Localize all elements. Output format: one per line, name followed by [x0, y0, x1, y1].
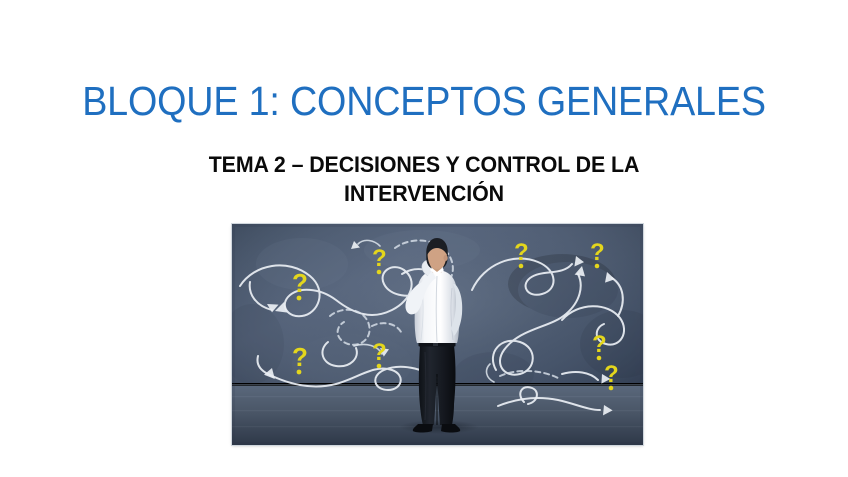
slide-image: .arw { fill:none; stroke:#E9EEF3; stroke… [232, 224, 643, 445]
subtitle-line-1: TEMA 2 – DECISIONES Y CONTROL DE LA [209, 152, 640, 177]
confused-man-illustration: .arw { fill:none; stroke:#E9EEF3; stroke… [232, 224, 643, 445]
question-mark-icon: ? [292, 342, 308, 372]
question-mark-icon: ? [372, 339, 387, 366]
presentation-slide: BLOQUE 1: CONCEPTOS GENERALES TEMA 2 – D… [0, 0, 848, 477]
slide-subtitle: TEMA 2 – DECISIONES Y CONTROL DE LA INTE… [139, 150, 709, 208]
question-mark-icon: ? [592, 331, 607, 358]
question-mark-icon: ? [292, 268, 308, 298]
question-mark-icon: ? [514, 239, 529, 266]
subtitle-line-2: INTERVENCIÓN [139, 179, 709, 208]
page-title: BLOQUE 1: CONCEPTOS GENERALES [34, 78, 814, 124]
question-mark-icon: ? [372, 245, 387, 272]
question-mark-icon: ? [604, 361, 619, 388]
question-mark-icon: ? [590, 239, 605, 266]
